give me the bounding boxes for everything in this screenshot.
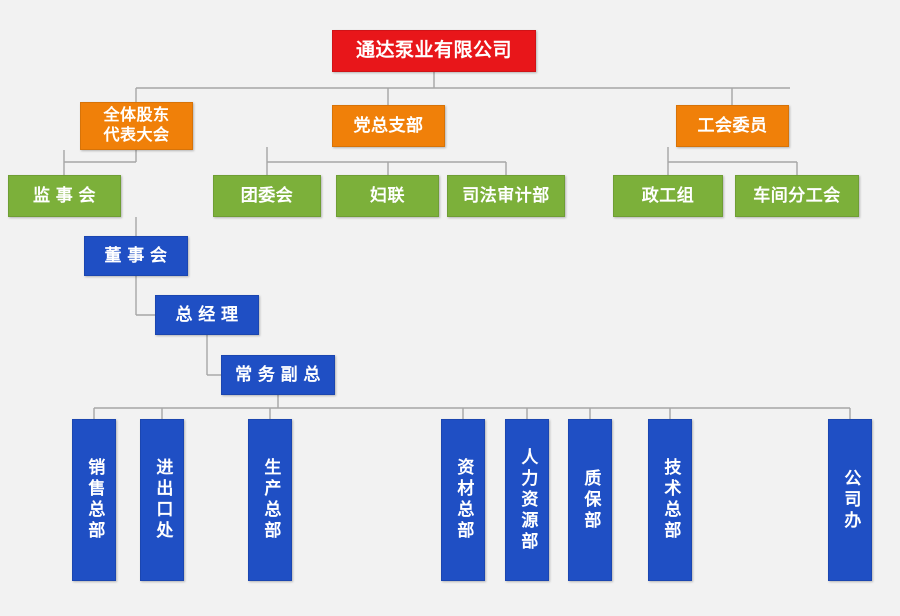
org-node-sales[interactable]: 销售总部 xyxy=(72,419,116,581)
org-node-judicial[interactable]: 司法审计部 xyxy=(447,175,565,217)
org-node-shareholder[interactable]: 全体股东代表大会 xyxy=(80,102,193,150)
org-node-party[interactable]: 党总支部 xyxy=(332,105,445,147)
org-chart: 通达泵业有限公司全体股东代表大会党总支部工会委员监 事 会团委会妇联司法审计部政… xyxy=(0,0,900,616)
org-node-board[interactable]: 董 事 会 xyxy=(84,236,188,276)
org-node-production[interactable]: 生产总部 xyxy=(248,419,292,581)
org-node-gm[interactable]: 总 经 理 xyxy=(155,295,259,335)
org-node-workshop[interactable]: 车间分工会 xyxy=(735,175,859,217)
org-node-office[interactable]: 公司办 xyxy=(828,419,872,581)
org-node-hr[interactable]: 人力资源部 xyxy=(505,419,549,581)
org-node-technology[interactable]: 技术总部 xyxy=(648,419,692,581)
org-node-root[interactable]: 通达泵业有限公司 xyxy=(332,30,536,72)
org-node-supervisor[interactable]: 监 事 会 xyxy=(8,175,121,217)
org-node-material[interactable]: 资材总部 xyxy=(441,419,485,581)
org-node-import[interactable]: 进出口处 xyxy=(140,419,184,581)
org-node-women[interactable]: 妇联 xyxy=(336,175,439,217)
org-node-deputy[interactable]: 常 务 副 总 xyxy=(221,355,335,395)
org-node-political[interactable]: 政工组 xyxy=(613,175,723,217)
org-node-youth[interactable]: 团委会 xyxy=(213,175,321,217)
org-node-quality[interactable]: 质保部 xyxy=(568,419,612,581)
org-node-union[interactable]: 工会委员 xyxy=(676,105,789,147)
